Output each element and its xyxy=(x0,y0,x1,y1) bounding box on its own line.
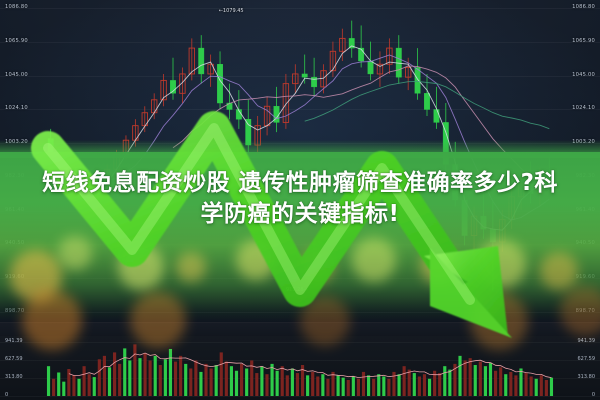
zigzag-down-arrow-icon xyxy=(0,0,600,400)
banner-image: 1086.801065.901045.001024.101003.20982.3… xyxy=(0,0,600,400)
